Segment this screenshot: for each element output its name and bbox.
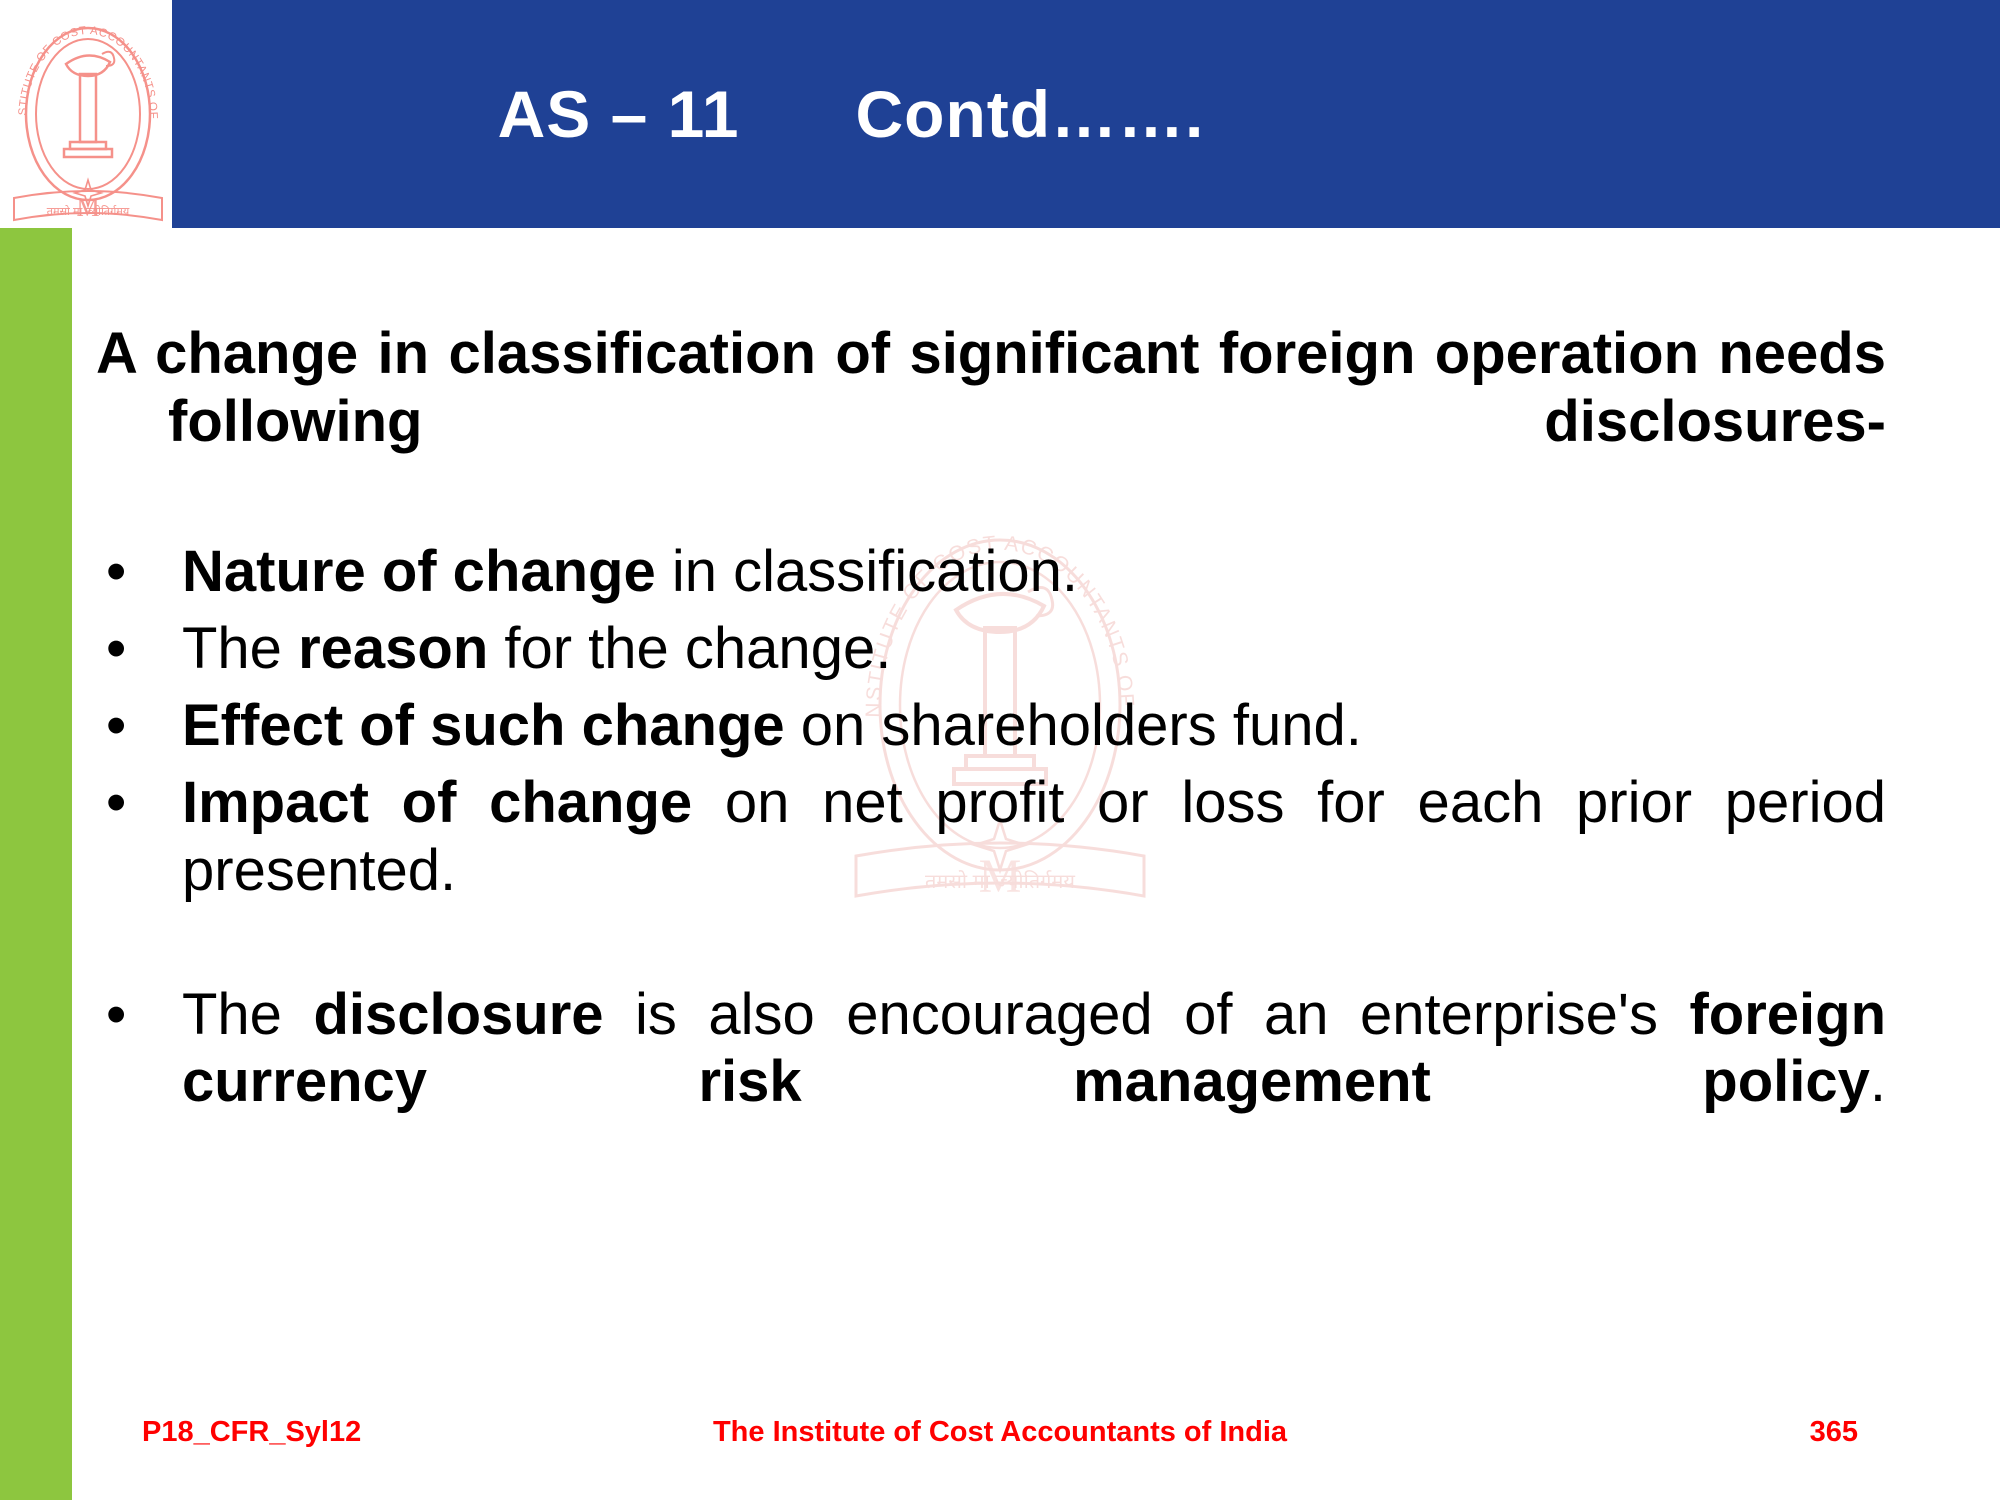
svg-text:M: M — [76, 193, 99, 222]
disclosure-bullet-list: •Nature of change in classification. •Th… — [96, 538, 1946, 1183]
list-item: •Nature of change in classification. — [96, 538, 1886, 605]
list-item: •The disclosure is also encouraged of an… — [96, 981, 1886, 1183]
intro-paragraph: A change in classification of significan… — [96, 320, 1886, 524]
bullet-bold-text: disclosure — [313, 982, 603, 1047]
bullet-dot-icon: • — [106, 615, 126, 682]
bullet-plain-text: for the change. — [488, 616, 891, 681]
bullet-plain-text: on shareholders fund. — [785, 693, 1362, 758]
bullet-bold-text: Effect of such change — [182, 693, 785, 758]
left-accent-stripe — [0, 228, 72, 1500]
bullet-plain-text: . — [1870, 1049, 1886, 1114]
list-item: •Impact of change on net profit or loss … — [96, 769, 1886, 971]
slide-body: A change in classification of significan… — [96, 320, 1946, 1193]
intro-text: A change in classification of significan… — [96, 321, 1886, 454]
bullet-mid-text: is also encouraged of an enterprise's — [604, 982, 1690, 1047]
bullet-dot-icon: • — [106, 538, 126, 605]
footer: P18_CFR_Syl12 The Institute of Cost Acco… — [0, 1416, 2000, 1464]
bullet-bold-text: Impact of change — [182, 770, 692, 835]
bullet-dot-icon: • — [106, 981, 126, 1048]
bullet-plain-text: in classification. — [656, 539, 1078, 604]
bullet-dot-icon: • — [106, 692, 126, 759]
bullet-bold-text: Nature of change — [182, 539, 656, 604]
list-item: •Effect of such change on shareholders f… — [96, 692, 1886, 759]
svg-text:THE INSTITUTE OF COST ACCOUNTA: THE INSTITUTE OF COST ACCOUNTANTS OF IND… — [4, 2, 159, 120]
footer-page-number: 365 — [1810, 1416, 1858, 1449]
bullet-prefix-text: The — [182, 616, 298, 681]
header-band: AS – 11 Contd……. — [172, 0, 2000, 228]
bullet-prefix-text: The — [182, 982, 313, 1047]
bullet-bold-text: reason — [298, 616, 488, 681]
list-item: •The reason for the change. — [96, 615, 1886, 682]
institute-logo-icon: THE INSTITUTE OF COST ACCOUNTANTS OF IND… — [4, 2, 172, 230]
slide: AS – 11 Contd……. THE INSTITUTE OF COST A… — [0, 0, 2000, 1500]
bullet-dot-icon: • — [106, 769, 126, 836]
page-title: AS – 11 Contd……. — [172, 0, 2000, 228]
footer-institute-name: The Institute of Cost Accountants of Ind… — [0, 1416, 2000, 1449]
